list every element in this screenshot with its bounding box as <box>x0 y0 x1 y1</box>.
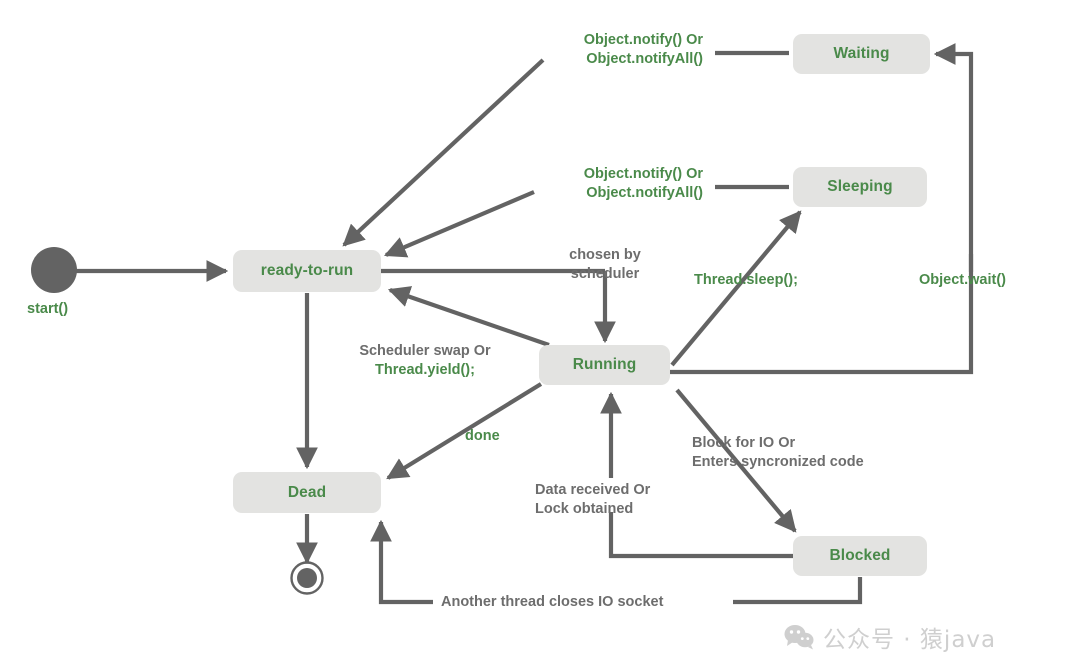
state-waiting-label: Waiting <box>833 45 889 63</box>
state-ready-to-run[interactable]: ready-to-run <box>233 250 381 292</box>
label-block-for-io-line1: Block for IO Or <box>692 434 864 453</box>
label-notify-sleeping-line2: Object.notifyAll() <box>405 184 703 203</box>
label-notify-waiting-line2: Object.notifyAll() <box>405 50 703 69</box>
start-node <box>31 247 77 293</box>
end-node-fill <box>297 568 317 588</box>
label-object-wait: Object.wait() <box>919 271 1006 290</box>
label-done: done <box>465 427 500 446</box>
label-data-received: Data received Or Lock obtained <box>535 481 650 519</box>
label-scheduler-swap-line2: Thread.yield(); <box>327 361 523 380</box>
label-chosen-by-scheduler-line1: chosen by <box>545 246 665 265</box>
wechat-icon <box>784 624 814 650</box>
state-dead-label: Dead <box>288 484 326 502</box>
edge-blocked-to-dead-seg1 <box>733 577 860 602</box>
label-block-for-io: Block for IO Or Enters syncronized code <box>692 434 864 472</box>
edge-running-to-ready <box>390 290 549 345</box>
label-notify-waiting: Object.notify() Or Object.notifyAll() <box>405 31 703 69</box>
state-dead[interactable]: Dead <box>233 472 381 513</box>
label-notify-sleeping: Object.notify() Or Object.notifyAll() <box>405 165 703 203</box>
state-blocked-label: Blocked <box>830 547 891 565</box>
edge-running-to-waiting-2 <box>936 54 971 272</box>
label-another-thread-closes: Another thread closes IO socket <box>441 593 663 612</box>
edge-waiting-to-ready <box>344 60 543 245</box>
watermark: 公众号 · 猿java <box>784 620 996 654</box>
state-running-label: Running <box>573 356 637 374</box>
state-sleeping[interactable]: Sleeping <box>793 167 927 207</box>
state-ready-to-run-label: ready-to-run <box>261 262 353 280</box>
state-blocked[interactable]: Blocked <box>793 536 927 576</box>
label-data-received-line2: Lock obtained <box>535 500 650 519</box>
state-running[interactable]: Running <box>539 345 670 385</box>
edge-blocked-to-dead-seg2 <box>381 522 433 602</box>
state-waiting[interactable]: Waiting <box>793 34 930 74</box>
label-scheduler-swap: Scheduler swap Or Thread.yield(); <box>327 342 523 380</box>
thread-lifecycle-diagram: ready-to-run Running Waiting Sleeping Bl… <box>0 0 1080 669</box>
label-notify-waiting-line1: Object.notify() Or <box>405 31 703 50</box>
label-chosen-by-scheduler: chosen by scheduler <box>545 246 665 284</box>
label-chosen-by-scheduler-line2: scheduler <box>545 265 665 284</box>
label-data-received-line1: Data received Or <box>535 481 650 500</box>
watermark-text: 公众号 · 猿java <box>823 620 996 654</box>
label-notify-sleeping-line1: Object.notify() Or <box>405 165 703 184</box>
label-scheduler-swap-line1: Scheduler swap Or <box>327 342 523 361</box>
state-sleeping-label: Sleeping <box>827 178 892 196</box>
label-block-for-io-line2: Enters syncronized code <box>692 453 864 472</box>
label-thread-sleep: Thread.sleep(); <box>694 271 798 290</box>
start-node-label: start() <box>27 301 68 317</box>
